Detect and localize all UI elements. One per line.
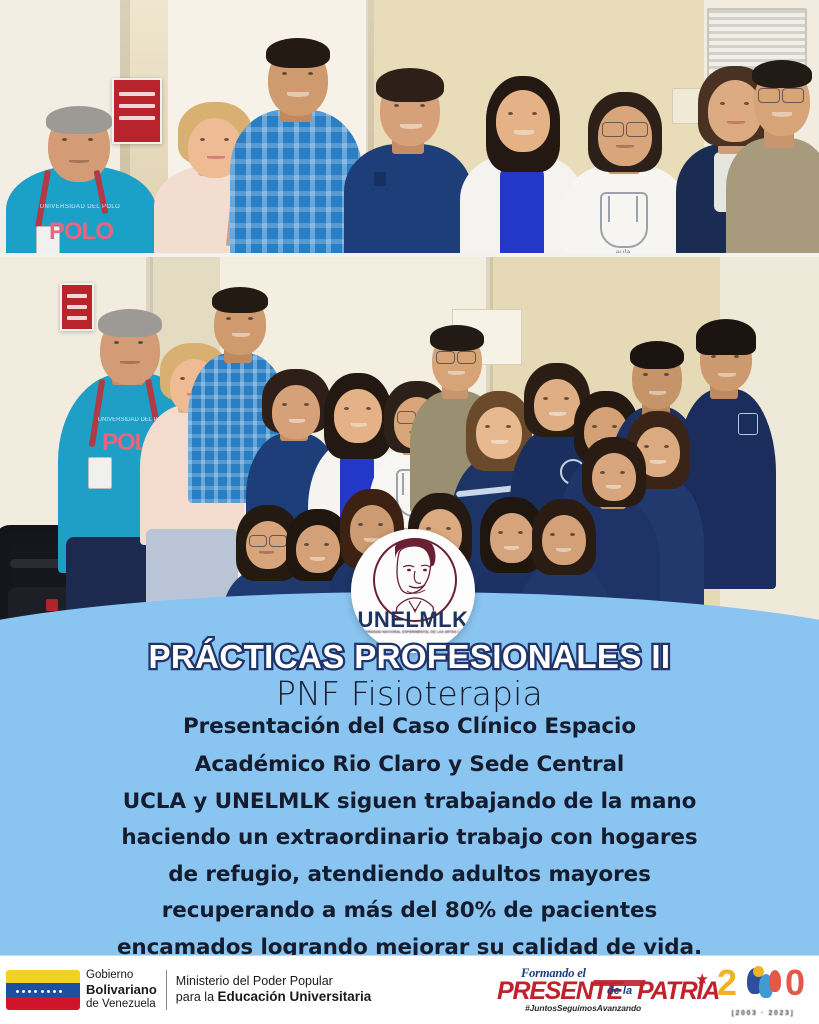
star-icon: ★ xyxy=(696,972,709,987)
page-subtitle: PNF Fisioterapia xyxy=(0,676,819,712)
patria-dela: de la xyxy=(607,985,632,997)
footer-divider xyxy=(166,970,167,1010)
patria-presente: PRESENTE xyxy=(497,977,622,1006)
logo-name-text: UNELMLK xyxy=(351,609,475,631)
gobierno-line-1: Gobierno xyxy=(86,969,157,982)
eyeglasses-icon xyxy=(602,122,624,137)
body-line-5: de refugio, atendiendo adultos mayores xyxy=(0,864,819,886)
poster-text-block: PRÁCTICAS PROFESIONALES II PNF Fisiotera… xyxy=(0,640,819,973)
ministerio-text: Ministerio del Poder Popular para la Edu… xyxy=(176,974,372,1005)
ministerio-line-2-light: para la xyxy=(176,990,218,1004)
gobierno-line-2: Bolivariano xyxy=(86,982,157,997)
gobierno-line-3: de Venezuela xyxy=(86,998,157,1011)
anniversary-zero: 0 xyxy=(785,965,805,1001)
body-line-1: Presentación del Caso Clínico Espacio xyxy=(0,716,819,738)
logo-subtitle-text: UNIVERSIDAD NACIONAL EXPERIMENTAL DE LAS… xyxy=(357,630,469,635)
body-line-6: recuperando a más del 80% de pacientes xyxy=(0,900,819,922)
footer-bar: Gobierno Bolivariano de Venezuela Minist… xyxy=(0,955,819,1024)
patria-logo: Formando el PRESENTE de la PATRIA ★ #Jun… xyxy=(497,966,715,1014)
patria-hashtag: #JuntosSeguimosAvanzando xyxy=(525,1003,641,1013)
anniversary-two: 2 xyxy=(717,965,737,1001)
body-line-4: haciendo un extraordinario trabajo con h… xyxy=(0,827,819,849)
ministerio-line-1: Ministerio del Poder Popular xyxy=(176,974,372,989)
body-line-2: Académico Rio Claro y Sede Central xyxy=(0,754,819,776)
unelmlk-logo: UNELMLK UNIVERSIDAD NACIONAL EXPERIMENTA… xyxy=(351,529,475,653)
poster-root: UNIVERSIDAD DEL POLO POLO xyxy=(0,0,819,1024)
anniversary-years: [2003 · 2023] xyxy=(715,1010,811,1017)
gobierno-text: Gobierno Bolivariano de Venezuela xyxy=(86,969,157,1011)
body-line-3: UCLA y UNELMLK siguen trabajando de la m… xyxy=(0,791,819,813)
venezuela-flag-icon xyxy=(6,970,80,1010)
ministerio-line-2-bold: Educación Universitaria xyxy=(218,989,372,1004)
photo-top: UNIVERSIDAD DEL POLO POLO xyxy=(0,0,819,253)
page-title: PRÁCTICAS PROFESIONALES II xyxy=(0,640,819,674)
anniversary-logo: 2 0 [2003 · 2023] xyxy=(715,964,811,1016)
